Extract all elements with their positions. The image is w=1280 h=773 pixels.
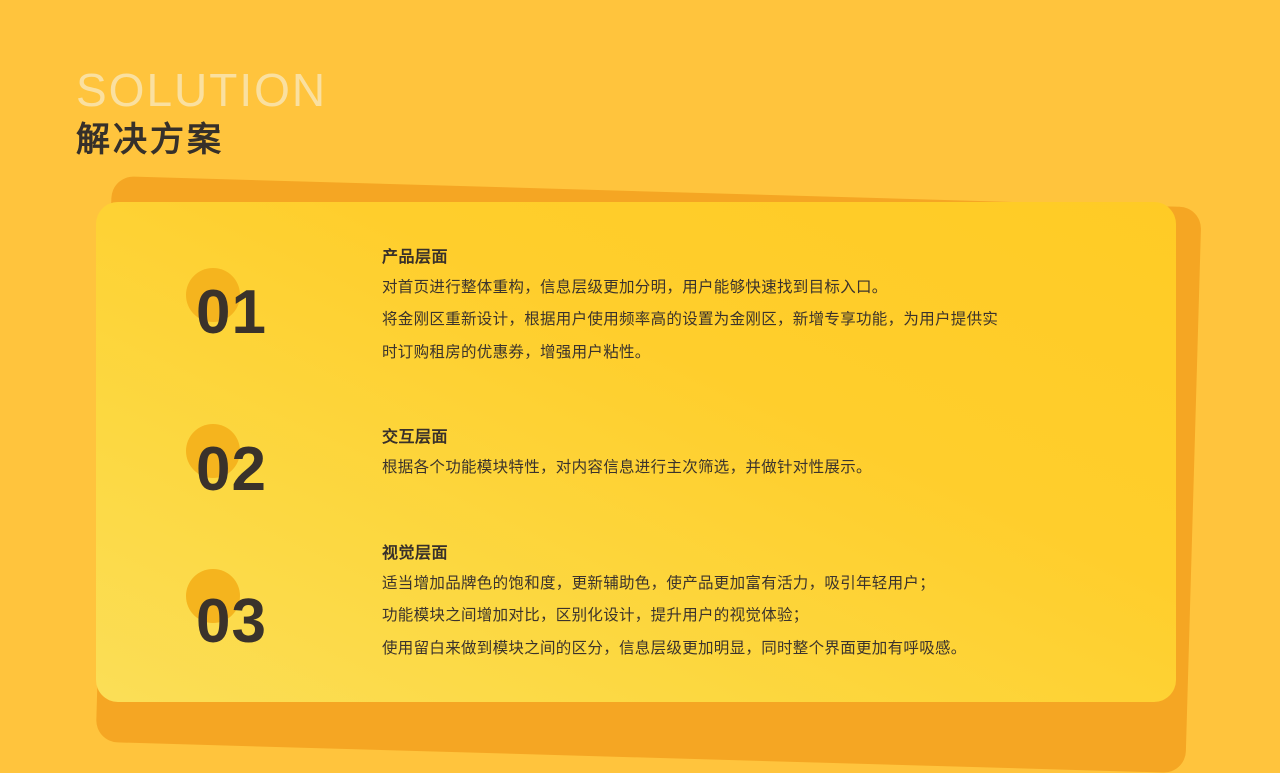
item-number-wrap: 01 xyxy=(186,262,267,344)
page-title: 解决方案 xyxy=(76,120,327,161)
item-line: 根据各个功能模块特性，对内容信息进行主次筛选，并做针对性展示。 xyxy=(382,460,872,476)
item-heading: 视觉层面 xyxy=(382,544,967,565)
item-heading: 产品层面 xyxy=(382,248,998,269)
item-number: 02 xyxy=(196,439,267,501)
item-body: 产品层面 对首页进行整体重构，信息层级更加分明，用户能够快速找到目标入口。 将金… xyxy=(382,248,998,360)
title-block: SOLUTION 解决方案 xyxy=(76,66,327,161)
item-number: 03 xyxy=(196,591,267,653)
item-line: 将金刚区重新设计，根据用户使用频率高的设置为金刚区，新增专享功能，为用户提供实 xyxy=(382,312,998,328)
item-number: 01 xyxy=(196,282,267,344)
item-line: 对首页进行整体重构，信息层级更加分明，用户能够快速找到目标入口。 xyxy=(382,280,998,296)
item-line: 使用留白来做到模块之间的区分，信息层级更加明显，同时整个界面更加有呼吸感。 xyxy=(382,641,967,657)
eyebrow-solution: SOLUTION xyxy=(76,66,327,114)
item-body: 视觉层面 适当增加品牌色的饱和度，更新辅助色，使产品更加富有活力，吸引年轻用户；… xyxy=(382,544,967,656)
item-number-wrap: 03 xyxy=(186,566,267,653)
item-number-wrap: 02 xyxy=(186,424,267,501)
item-line: 功能模块之间增加对比，区别化设计，提升用户的视觉体验； xyxy=(382,608,967,624)
item-line: 适当增加品牌色的饱和度，更新辅助色，使产品更加富有活力，吸引年轻用户； xyxy=(382,576,967,592)
item-heading: 交互层面 xyxy=(382,428,872,449)
item-body: 交互层面 根据各个功能模块特性，对内容信息进行主次筛选，并做针对性展示。 xyxy=(382,428,872,475)
item-line: 时订购租房的优惠券，增强用户粘性。 xyxy=(382,345,998,361)
